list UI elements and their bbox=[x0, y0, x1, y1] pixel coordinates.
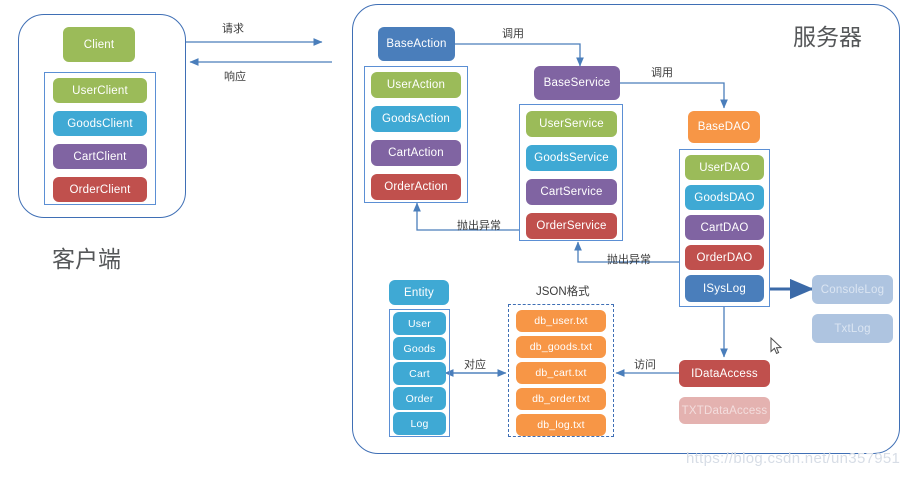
watermark: https://blog.csdn.net/un357951 bbox=[686, 450, 900, 467]
file-db-log-label: db_log.txt bbox=[537, 419, 585, 431]
node-orderservice[interactable]: OrderService bbox=[526, 213, 617, 239]
node-entity-cart-label: Cart bbox=[409, 368, 430, 380]
node-entity-goods[interactable]: Goods bbox=[393, 337, 446, 360]
node-isyslog-label: ISysLog bbox=[703, 283, 746, 295]
node-orderaction[interactable]: OrderAction bbox=[371, 174, 461, 200]
file-db-user[interactable]: db_user.txt bbox=[516, 310, 606, 332]
storage-title: JSON格式 bbox=[536, 283, 590, 299]
node-isyslog[interactable]: ISysLog bbox=[685, 275, 764, 302]
node-entity-order[interactable]: Order bbox=[393, 387, 446, 410]
node-orderservice-label: OrderService bbox=[536, 220, 606, 232]
node-entity-label: Entity bbox=[404, 287, 434, 299]
edge-label-service-dao: 调用 bbox=[651, 64, 673, 80]
node-txtdataaccess[interactable]: TXTDataAccess bbox=[679, 397, 770, 424]
edge-label-entity-map: 对应 bbox=[464, 356, 486, 372]
node-userclient[interactable]: UserClient bbox=[53, 78, 147, 103]
node-txtdataaccess-label: TXTDataAccess bbox=[682, 405, 768, 417]
node-cartservice[interactable]: CartService bbox=[526, 179, 617, 205]
edge-label-service-throw: 抛出异常 bbox=[457, 217, 501, 233]
node-goodsservice-label: GoodsService bbox=[534, 152, 609, 164]
edge-label-dao-throw: 抛出异常 bbox=[607, 251, 651, 267]
file-db-user-label: db_user.txt bbox=[534, 315, 588, 327]
node-basedao-label: BaseDAO bbox=[698, 121, 751, 133]
architecture-diagram: 客户端 Client UserClient GoodsClient CartCl… bbox=[0, 0, 908, 477]
node-useraction-label: UserAction bbox=[387, 79, 445, 91]
node-cartaction-label: CartAction bbox=[388, 147, 444, 159]
node-userclient-label: UserClient bbox=[72, 85, 128, 97]
file-db-order[interactable]: db_order.txt bbox=[516, 388, 606, 410]
node-goodsservice[interactable]: GoodsService bbox=[526, 145, 617, 171]
node-idataaccess[interactable]: IDataAccess bbox=[679, 360, 770, 387]
node-goodsclient[interactable]: GoodsClient bbox=[53, 111, 147, 136]
node-userdao-label: UserDAO bbox=[699, 162, 750, 174]
node-entity-log-label: Log bbox=[410, 418, 428, 430]
server-zone-title: 服务器 bbox=[793, 18, 862, 52]
node-goodsdao[interactable]: GoodsDAO bbox=[685, 185, 764, 210]
node-baseservice-label: BaseService bbox=[544, 77, 611, 89]
node-entity[interactable]: Entity bbox=[389, 280, 449, 305]
node-userservice-label: UserService bbox=[539, 118, 604, 130]
node-userdao[interactable]: UserDAO bbox=[685, 155, 764, 180]
node-baseaction-label: BaseAction bbox=[386, 38, 446, 50]
node-client-label: Client bbox=[84, 39, 115, 51]
edge-label-access-files: 访问 bbox=[634, 356, 656, 372]
node-entity-cart[interactable]: Cart bbox=[393, 362, 446, 385]
node-consolelog-label: ConsoleLog bbox=[821, 284, 884, 296]
node-entity-user[interactable]: User bbox=[393, 312, 446, 335]
node-goodsaction[interactable]: GoodsAction bbox=[371, 106, 461, 132]
node-client[interactable]: Client bbox=[63, 27, 135, 62]
node-basedao[interactable]: BaseDAO bbox=[688, 111, 760, 143]
mouse-cursor bbox=[770, 337, 783, 355]
node-baseaction[interactable]: BaseAction bbox=[378, 27, 455, 61]
file-db-goods-label: db_goods.txt bbox=[530, 341, 593, 353]
node-orderclient-label: OrderClient bbox=[70, 184, 131, 196]
node-entity-user-label: User bbox=[408, 318, 431, 330]
node-orderaction-label: OrderAction bbox=[384, 181, 448, 193]
edge-label-action-service: 调用 bbox=[502, 25, 524, 41]
node-entity-log[interactable]: Log bbox=[393, 412, 446, 435]
node-goodsdao-label: GoodsDAO bbox=[694, 192, 754, 204]
node-cartdao-label: CartDAO bbox=[700, 222, 748, 234]
client-zone-title: 客户端 bbox=[52, 240, 121, 274]
node-entity-order-label: Order bbox=[406, 393, 434, 405]
node-consolelog[interactable]: ConsoleLog bbox=[812, 275, 893, 304]
node-useraction[interactable]: UserAction bbox=[371, 72, 461, 98]
node-cartclient[interactable]: CartClient bbox=[53, 144, 147, 169]
node-txtlog-label: TxtLog bbox=[834, 323, 870, 335]
node-cartdao[interactable]: CartDAO bbox=[685, 215, 764, 240]
node-goodsaction-label: GoodsAction bbox=[382, 113, 450, 125]
node-userservice[interactable]: UserService bbox=[526, 111, 617, 137]
edge-label-response: 响应 bbox=[224, 68, 246, 84]
node-txtlog[interactable]: TxtLog bbox=[812, 314, 893, 343]
node-orderdao-label: OrderDAO bbox=[697, 252, 753, 264]
node-entity-goods-label: Goods bbox=[404, 343, 436, 355]
node-orderdao[interactable]: OrderDAO bbox=[685, 245, 764, 270]
node-cartservice-label: CartService bbox=[540, 186, 602, 198]
node-orderclient[interactable]: OrderClient bbox=[53, 177, 147, 202]
file-db-goods[interactable]: db_goods.txt bbox=[516, 336, 606, 358]
file-db-cart-label: db_cart.txt bbox=[535, 367, 586, 379]
file-db-order-label: db_order.txt bbox=[532, 393, 590, 405]
node-baseservice[interactable]: BaseService bbox=[534, 66, 620, 100]
file-db-log[interactable]: db_log.txt bbox=[516, 414, 606, 436]
node-cartaction[interactable]: CartAction bbox=[371, 140, 461, 166]
node-goodsclient-label: GoodsClient bbox=[67, 118, 132, 130]
file-db-cart[interactable]: db_cart.txt bbox=[516, 362, 606, 384]
node-cartclient-label: CartClient bbox=[73, 151, 126, 163]
node-idataaccess-label: IDataAccess bbox=[691, 368, 758, 380]
edge-label-request: 请求 bbox=[222, 20, 244, 36]
